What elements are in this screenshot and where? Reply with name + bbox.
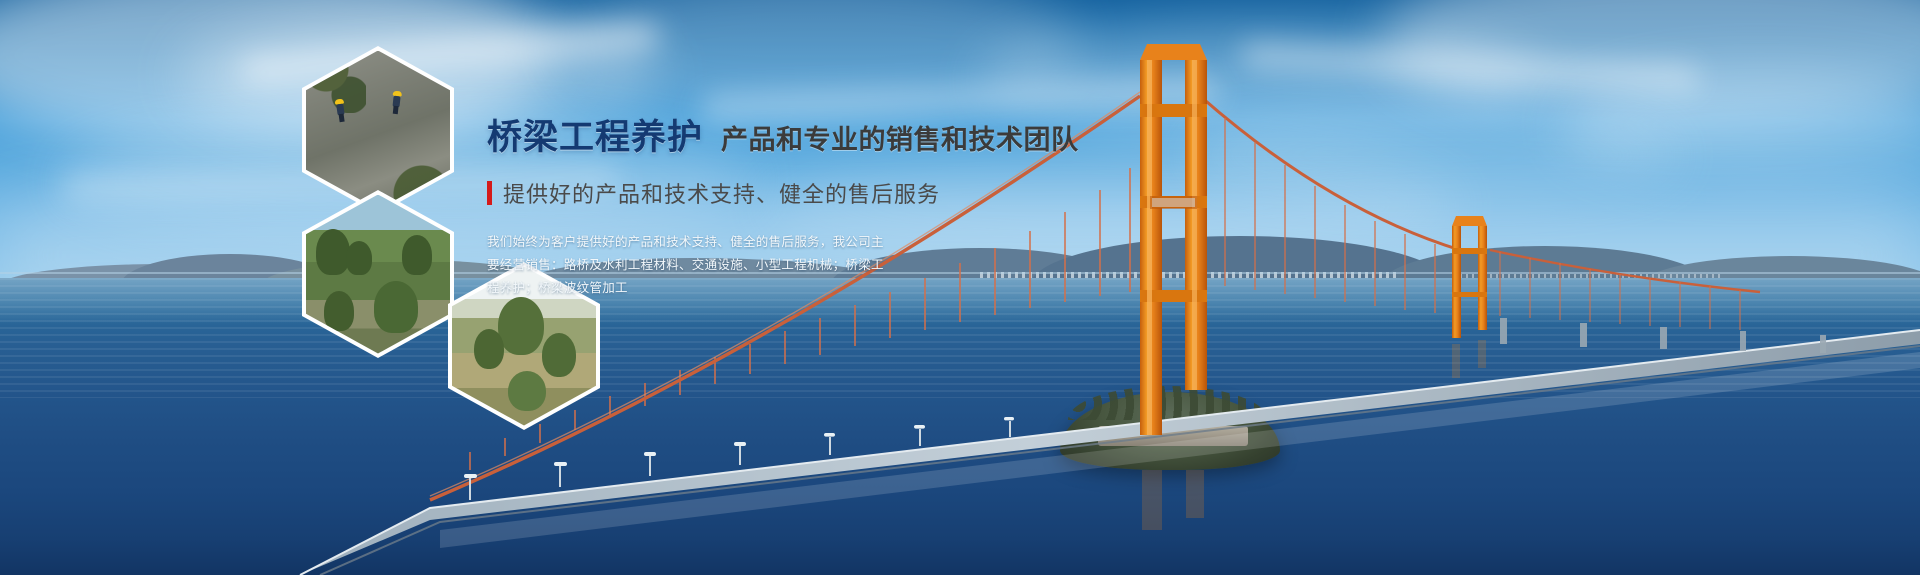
photo-tree (324, 291, 354, 331)
banner-headline: 桥梁工程养护 产品和专业的销售和技术团队 (487, 120, 1127, 155)
headline-primary: 桥梁工程养护 (487, 120, 703, 155)
photo-tree (474, 329, 504, 369)
accent-bar (487, 181, 492, 205)
photo-tree (374, 281, 418, 333)
rock-slope-netting-photo (306, 51, 450, 210)
hex-photo-2-image (306, 195, 450, 354)
banner-subtitle: 提供好的产品和技术支持、健全的售后服务 (503, 177, 940, 209)
photo-tree (346, 241, 372, 275)
banner-subtitle-row: 提供好的产品和技术支持、健全的售后服务 (487, 177, 1127, 209)
hex-photo-1-image (306, 51, 450, 210)
banner-copy: 桥梁工程养护 产品和专业的销售和技术团队 提供好的产品和技术支持、健全的售后服务… (487, 120, 1127, 300)
photo-tree (498, 297, 544, 355)
cloud (1180, 110, 1680, 200)
hero-banner: 桥梁工程养护 产品和专业的销售和技术团队 提供好的产品和技术支持、健全的售后服务… (0, 0, 1920, 575)
hex-photo-2[interactable] (302, 190, 454, 358)
photo-tree (402, 235, 432, 275)
photo-tree (508, 371, 546, 411)
photo-tree (316, 229, 350, 275)
hex-photo-1[interactable] (302, 46, 454, 214)
worker-legs (339, 113, 345, 122)
island-retaining-wall (1098, 426, 1248, 446)
worker-legs (393, 105, 399, 113)
banner-paragraph: 我们始终为客户提供好的产品和技术支持、健全的售后服务，我公司主要经营销售：路桥及… (487, 231, 887, 300)
photo-tree (542, 333, 576, 377)
headline-secondary: 产品和专业的销售和技术团队 (721, 127, 1079, 154)
green-slope-netting-photo (306, 195, 450, 354)
worker-figure (391, 90, 402, 113)
